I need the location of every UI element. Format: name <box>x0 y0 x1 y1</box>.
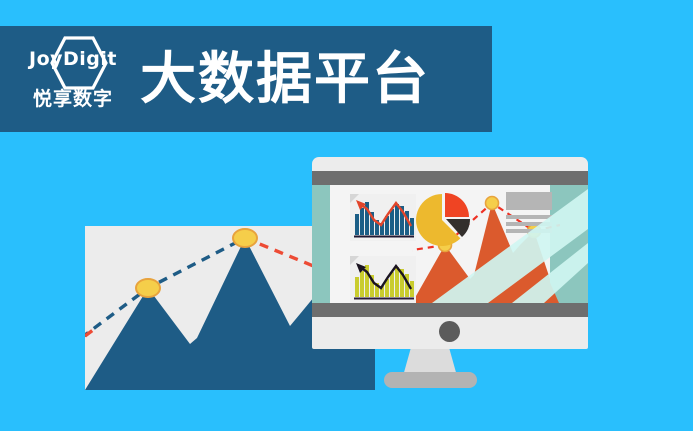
screen-bar-chart-blue-svg <box>350 194 416 241</box>
text-line <box>506 215 552 219</box>
card-fold-corner <box>350 194 359 203</box>
header-banner: JoyDigit 悦享数字 大数据平台 <box>0 26 492 132</box>
logo-subtext: 悦享数字 <box>18 90 128 109</box>
screen-bar-chart-blue <box>350 194 416 241</box>
monitor-bezel-top <box>312 171 588 185</box>
brand-logo: JoyDigit 悦享数字 <box>18 34 128 124</box>
monitor-base <box>384 372 477 388</box>
data-marker <box>486 197 499 210</box>
page-title: 大数据平台 <box>140 46 430 114</box>
text-line <box>506 229 552 233</box>
screen-bar-chart-olive-svg <box>350 256 416 303</box>
monitor-bezel-bottom <box>312 303 588 317</box>
logo-wordmark: JoyDigit <box>18 50 128 69</box>
image-placeholder <box>506 192 552 210</box>
screen-pie-chart <box>416 191 474 249</box>
banner-canvas: JoyDigit 悦享数字 大数据平台 <box>0 0 693 431</box>
screen-side-panel-left <box>312 185 330 303</box>
screen-bar-chart-olive <box>350 256 416 303</box>
desktop-monitor <box>312 157 588 349</box>
monitor-screen <box>312 185 588 303</box>
screen-text-block <box>506 192 552 232</box>
text-line <box>506 222 552 226</box>
card-fold-corner <box>350 256 359 265</box>
data-marker <box>233 229 257 247</box>
pie-slice-b <box>445 193 469 217</box>
screen-pie-chart-svg <box>416 191 474 249</box>
monitor-power-button[interactable] <box>439 321 460 342</box>
data-marker <box>136 279 160 297</box>
